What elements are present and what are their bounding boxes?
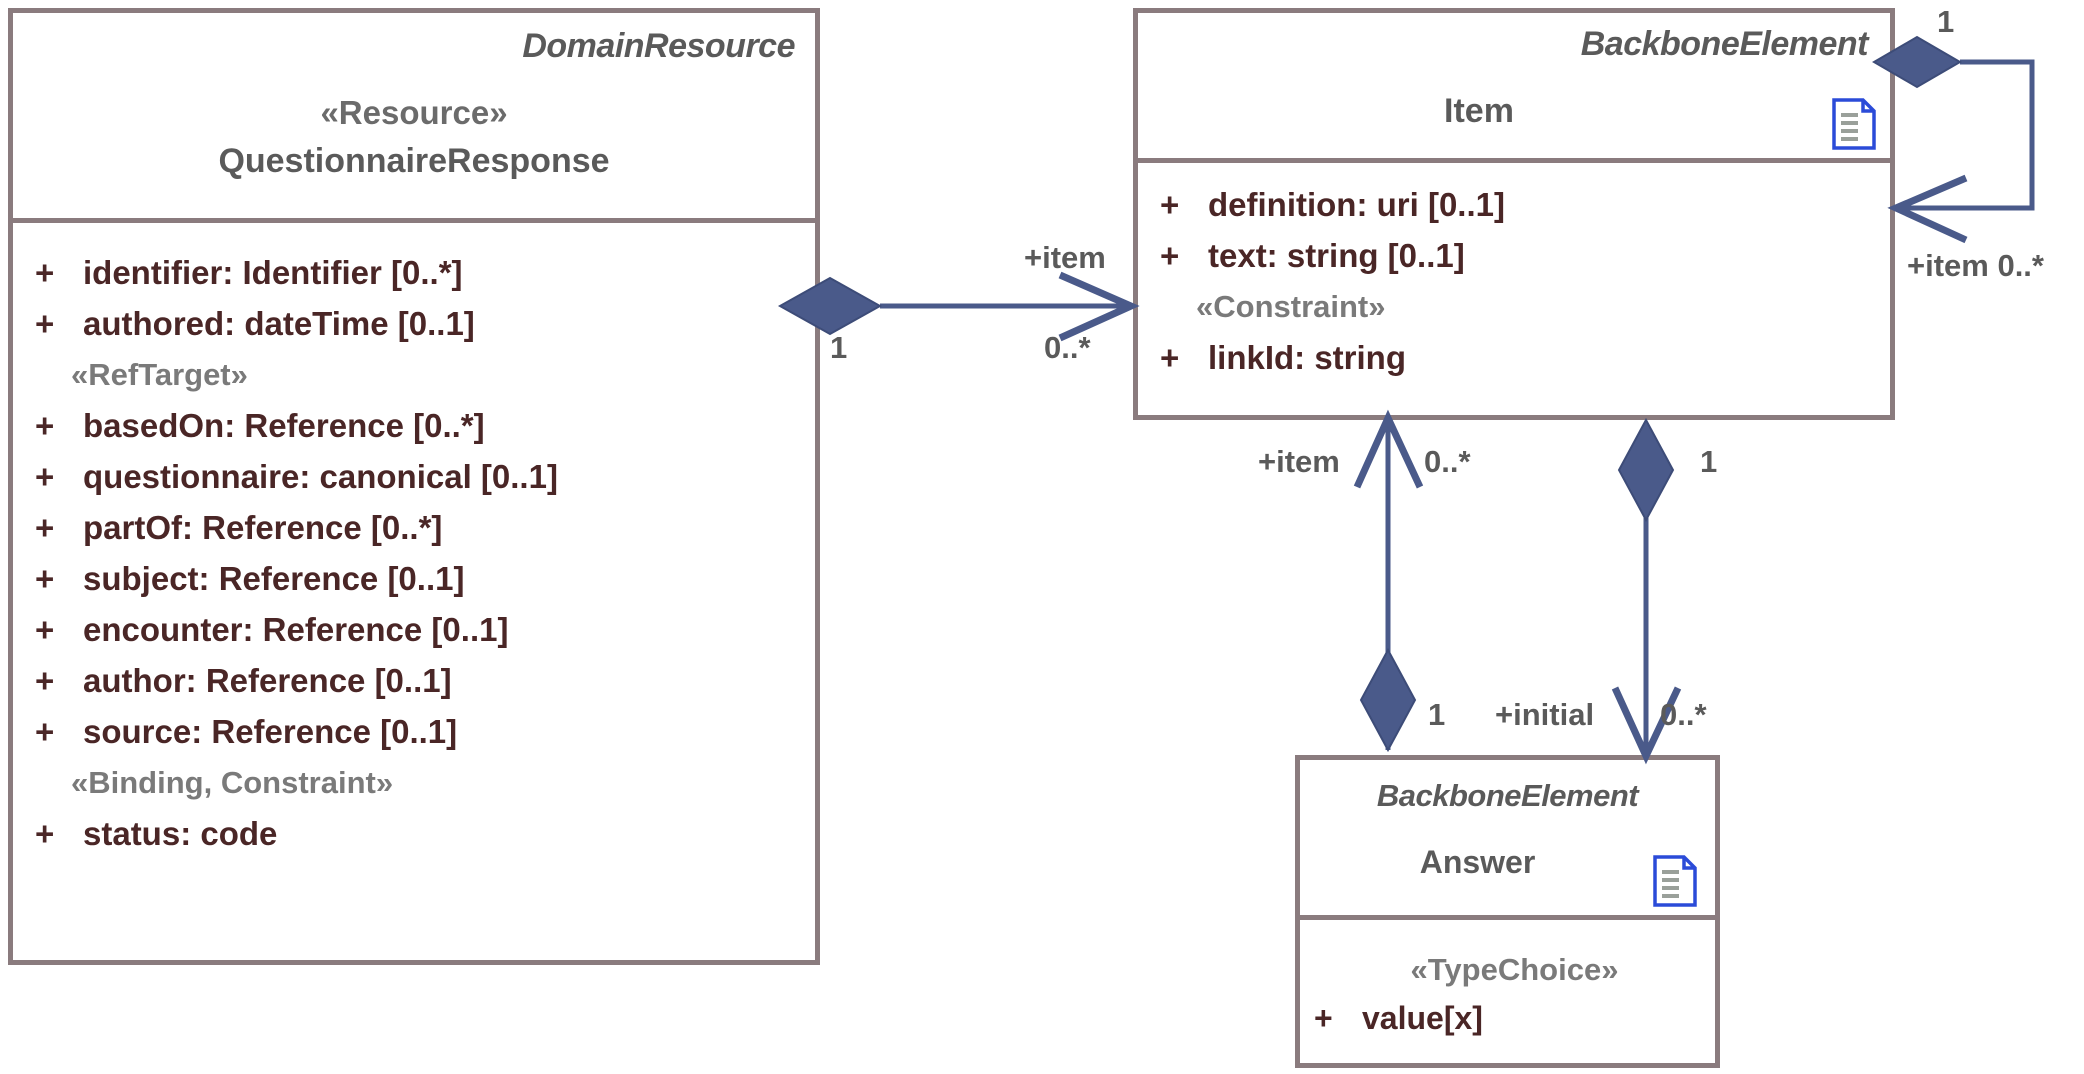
visibility-marker: + bbox=[35, 706, 83, 757]
attribute-row: + text: string [0..1] bbox=[1160, 230, 1890, 281]
class-answer[interactable]: BackboneElement Answer «TypeChoice» + va… bbox=[1295, 755, 1720, 1068]
edge-label-self-mult-one: 1 bbox=[1937, 4, 1954, 40]
visibility-marker: + bbox=[35, 451, 83, 502]
attribute-row: + author: Reference [0..1] bbox=[35, 655, 815, 706]
attribute-row: + basedOn: Reference [0..*] bbox=[35, 400, 815, 451]
attribute-signature: partOf: Reference [0..*] bbox=[83, 502, 815, 553]
visibility-marker: + bbox=[35, 247, 83, 298]
association-qr-to-item bbox=[780, 275, 1131, 338]
attribute-row: + identifier: Identifier [0..*] bbox=[35, 247, 815, 298]
visibility-marker: + bbox=[35, 502, 83, 553]
attribute-row: + value[x] bbox=[1314, 994, 1715, 1042]
attribute-signature: value[x] bbox=[1362, 994, 1715, 1042]
edge-label-qr-item-role: +item bbox=[1024, 240, 1106, 276]
attribute-signature: basedOn: Reference [0..*] bbox=[83, 400, 815, 451]
attribute-row: + linkId: string bbox=[1160, 332, 1890, 383]
edge-label-initial-role: +initial bbox=[1495, 697, 1594, 733]
attribute-row: + authored: dateTime [0..1] bbox=[35, 298, 815, 349]
document-icon bbox=[1653, 855, 1697, 907]
attribute-row: + source: Reference [0..1] bbox=[35, 706, 815, 757]
attribute-signature: text: string [0..1] bbox=[1208, 230, 1890, 281]
edge-label-initial-one: 1 bbox=[1700, 444, 1717, 480]
visibility-marker: + bbox=[35, 604, 83, 655]
attribute-compartment: + definition: uri [0..1] + text: string … bbox=[1138, 163, 1890, 383]
attribute-signature: identifier: Identifier [0..*] bbox=[83, 247, 815, 298]
attribute-row: + definition: uri [0..1] bbox=[1160, 179, 1890, 230]
attribute-group-stereotype: «Constraint» bbox=[1160, 281, 1890, 332]
attribute-signature: status: code bbox=[83, 808, 815, 859]
class-header: DomainResource «Resource» QuestionnaireR… bbox=[13, 13, 815, 218]
class-name: QuestionnaireResponse bbox=[13, 142, 815, 181]
attribute-signature: author: Reference [0..1] bbox=[83, 655, 815, 706]
class-questionnaire-response[interactable]: DomainResource «Resource» QuestionnaireR… bbox=[8, 8, 820, 965]
visibility-marker: + bbox=[35, 808, 83, 859]
visibility-marker: + bbox=[35, 400, 83, 451]
attribute-row: + questionnaire: canonical [0..1] bbox=[35, 451, 815, 502]
visibility-marker: + bbox=[1160, 179, 1208, 230]
edge-label-qr-source-mult: 1 bbox=[830, 330, 847, 366]
attribute-signature: linkId: string bbox=[1208, 332, 1890, 383]
association-answer-to-item bbox=[1357, 418, 1420, 750]
edge-label-initial-mult: 0..* bbox=[1660, 697, 1707, 733]
class-header: BackboneElement Answer bbox=[1300, 760, 1715, 915]
association-item-self bbox=[1874, 37, 2032, 240]
visibility-marker: + bbox=[1314, 994, 1362, 1042]
class-header: BackboneElement Item bbox=[1138, 13, 1890, 158]
attribute-signature: encounter: Reference [0..1] bbox=[83, 604, 815, 655]
attribute-group-stereotype: «TypeChoice» bbox=[1314, 946, 1715, 994]
supertype-label: BackboneElement bbox=[1138, 25, 1890, 64]
visibility-marker: + bbox=[35, 298, 83, 349]
class-item[interactable]: BackboneElement Item + definition: uri [… bbox=[1133, 8, 1895, 420]
visibility-marker: + bbox=[35, 553, 83, 604]
supertype-label: BackboneElement bbox=[1300, 778, 1715, 814]
visibility-marker: + bbox=[35, 655, 83, 706]
document-icon bbox=[1832, 98, 1876, 150]
class-name: Item bbox=[1138, 92, 1890, 131]
attribute-row: + subject: Reference [0..1] bbox=[35, 553, 815, 604]
attribute-group-stereotype: «RefTarget» bbox=[35, 349, 815, 400]
edge-label-answer-item-role: +item bbox=[1258, 444, 1340, 480]
edge-label-qr-target-mult: 0..* bbox=[1044, 330, 1091, 366]
supertype-label: DomainResource bbox=[13, 27, 815, 66]
visibility-marker: + bbox=[1160, 230, 1208, 281]
edge-label-answer-item-mult: 0..* bbox=[1424, 444, 1471, 480]
attribute-row: + encounter: Reference [0..1] bbox=[35, 604, 815, 655]
uml-class-diagram: .wire { stroke: #4a5a8a; stroke-width: 5… bbox=[0, 0, 2084, 1074]
attribute-signature: definition: uri [0..1] bbox=[1208, 179, 1890, 230]
attribute-compartment: «TypeChoice» + value[x] bbox=[1300, 920, 1715, 1042]
attribute-row: + status: code bbox=[35, 808, 815, 859]
attribute-row: + partOf: Reference [0..*] bbox=[35, 502, 815, 553]
edge-label-self-role-mult: +item 0..* bbox=[1907, 248, 2044, 284]
attribute-signature: subject: Reference [0..1] bbox=[83, 553, 815, 604]
edge-label-answer-item-one: 1 bbox=[1428, 697, 1445, 733]
attribute-signature: source: Reference [0..1] bbox=[83, 706, 815, 757]
class-stereotype: «Resource» bbox=[13, 94, 815, 132]
attribute-compartment: + identifier: Identifier [0..*] + author… bbox=[13, 223, 815, 859]
attribute-signature: authored: dateTime [0..1] bbox=[83, 298, 815, 349]
attribute-signature: questionnaire: canonical [0..1] bbox=[83, 451, 815, 502]
visibility-marker: + bbox=[1160, 332, 1208, 383]
attribute-group-stereotype: «Binding, Constraint» bbox=[35, 757, 815, 808]
